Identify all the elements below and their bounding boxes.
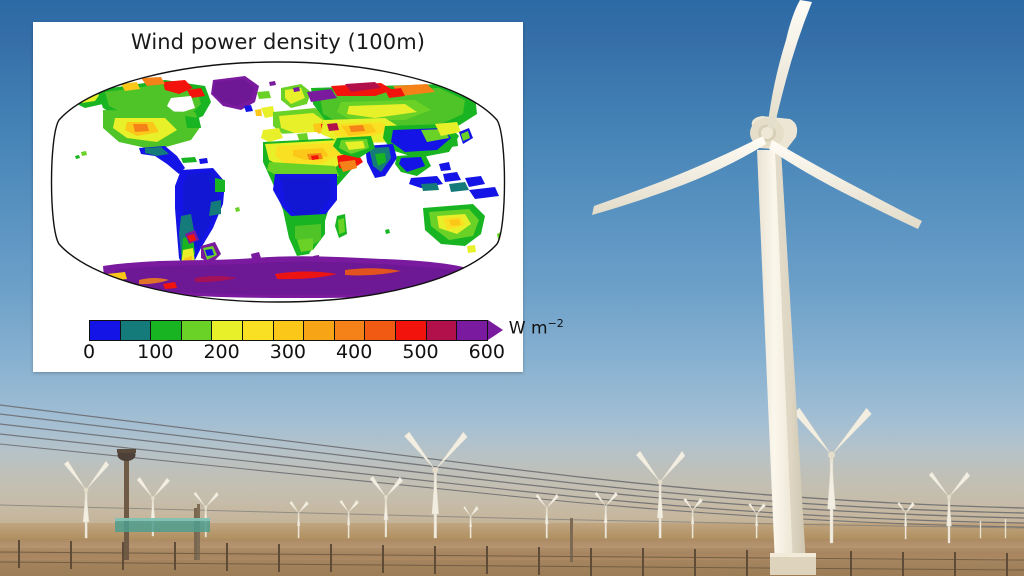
colorbar-band — [396, 321, 427, 340]
colorbar-tick-label: 200 — [203, 341, 239, 363]
colorbar-band — [151, 321, 182, 340]
background-turbine — [980, 521, 981, 538]
fence-posts — [18, 540, 1008, 576]
figure-title: Wind power density (100m) — [33, 30, 523, 54]
background-turbine — [370, 476, 403, 537]
colorbar-band — [457, 321, 487, 340]
colorbar-band — [90, 321, 121, 340]
wind-power-density-figure-panel: Wind power density (100m) — [33, 22, 523, 372]
colorbar-band — [243, 321, 274, 340]
background-turbine — [684, 498, 703, 538]
background-turbine — [290, 501, 309, 538]
background-turbine — [794, 408, 872, 543]
colorbar-extend-arrow — [488, 320, 503, 340]
colorbar-tick-label: 500 — [402, 341, 438, 363]
colorbar-band — [427, 321, 458, 340]
colorbar-tick-label: 400 — [336, 341, 372, 363]
colorbar-tick-label: 0 — [83, 341, 95, 363]
colorbar: 0100200300400500600 W m−2 — [47, 310, 509, 366]
background-turbine — [64, 461, 109, 538]
colorbar-tick-labels: 0100200300400500600 — [47, 341, 509, 363]
colorbar-band — [274, 321, 305, 340]
utility-pole — [117, 449, 136, 560]
screenshot-root: Wind power density (100m) — [0, 0, 1024, 576]
colorbar-band — [212, 321, 243, 340]
background-turbine — [464, 506, 479, 538]
background-turbine — [636, 451, 685, 538]
colorbar-band — [304, 321, 335, 340]
map-data-layer — [45, 58, 511, 306]
colorbar-band — [121, 321, 152, 340]
green-shelter — [115, 518, 210, 532]
colorbar-band — [365, 321, 396, 340]
background-turbine — [1005, 519, 1006, 538]
background-turbine — [929, 472, 970, 543]
colorbar-tick-label: 100 — [137, 341, 173, 363]
colorbar-bands — [89, 320, 488, 341]
world-map — [45, 58, 511, 306]
unit-exponent: −2 — [548, 317, 564, 330]
colorbar-tick-label: 600 — [469, 341, 505, 363]
world-map-svg — [45, 58, 511, 306]
colorbar-unit-label: W m−2 — [509, 317, 564, 339]
background-turbine — [404, 432, 467, 538]
background-turbine — [340, 500, 359, 538]
colorbar-band — [335, 321, 366, 340]
utility-pole — [570, 518, 573, 562]
colorbar-band — [182, 321, 213, 340]
colorbar-tick-label: 300 — [270, 341, 306, 363]
foreground-wind-turbine — [592, 0, 922, 575]
fence — [0, 552, 1024, 570]
utility-pole — [194, 508, 197, 560]
background-turbine — [749, 503, 766, 538]
